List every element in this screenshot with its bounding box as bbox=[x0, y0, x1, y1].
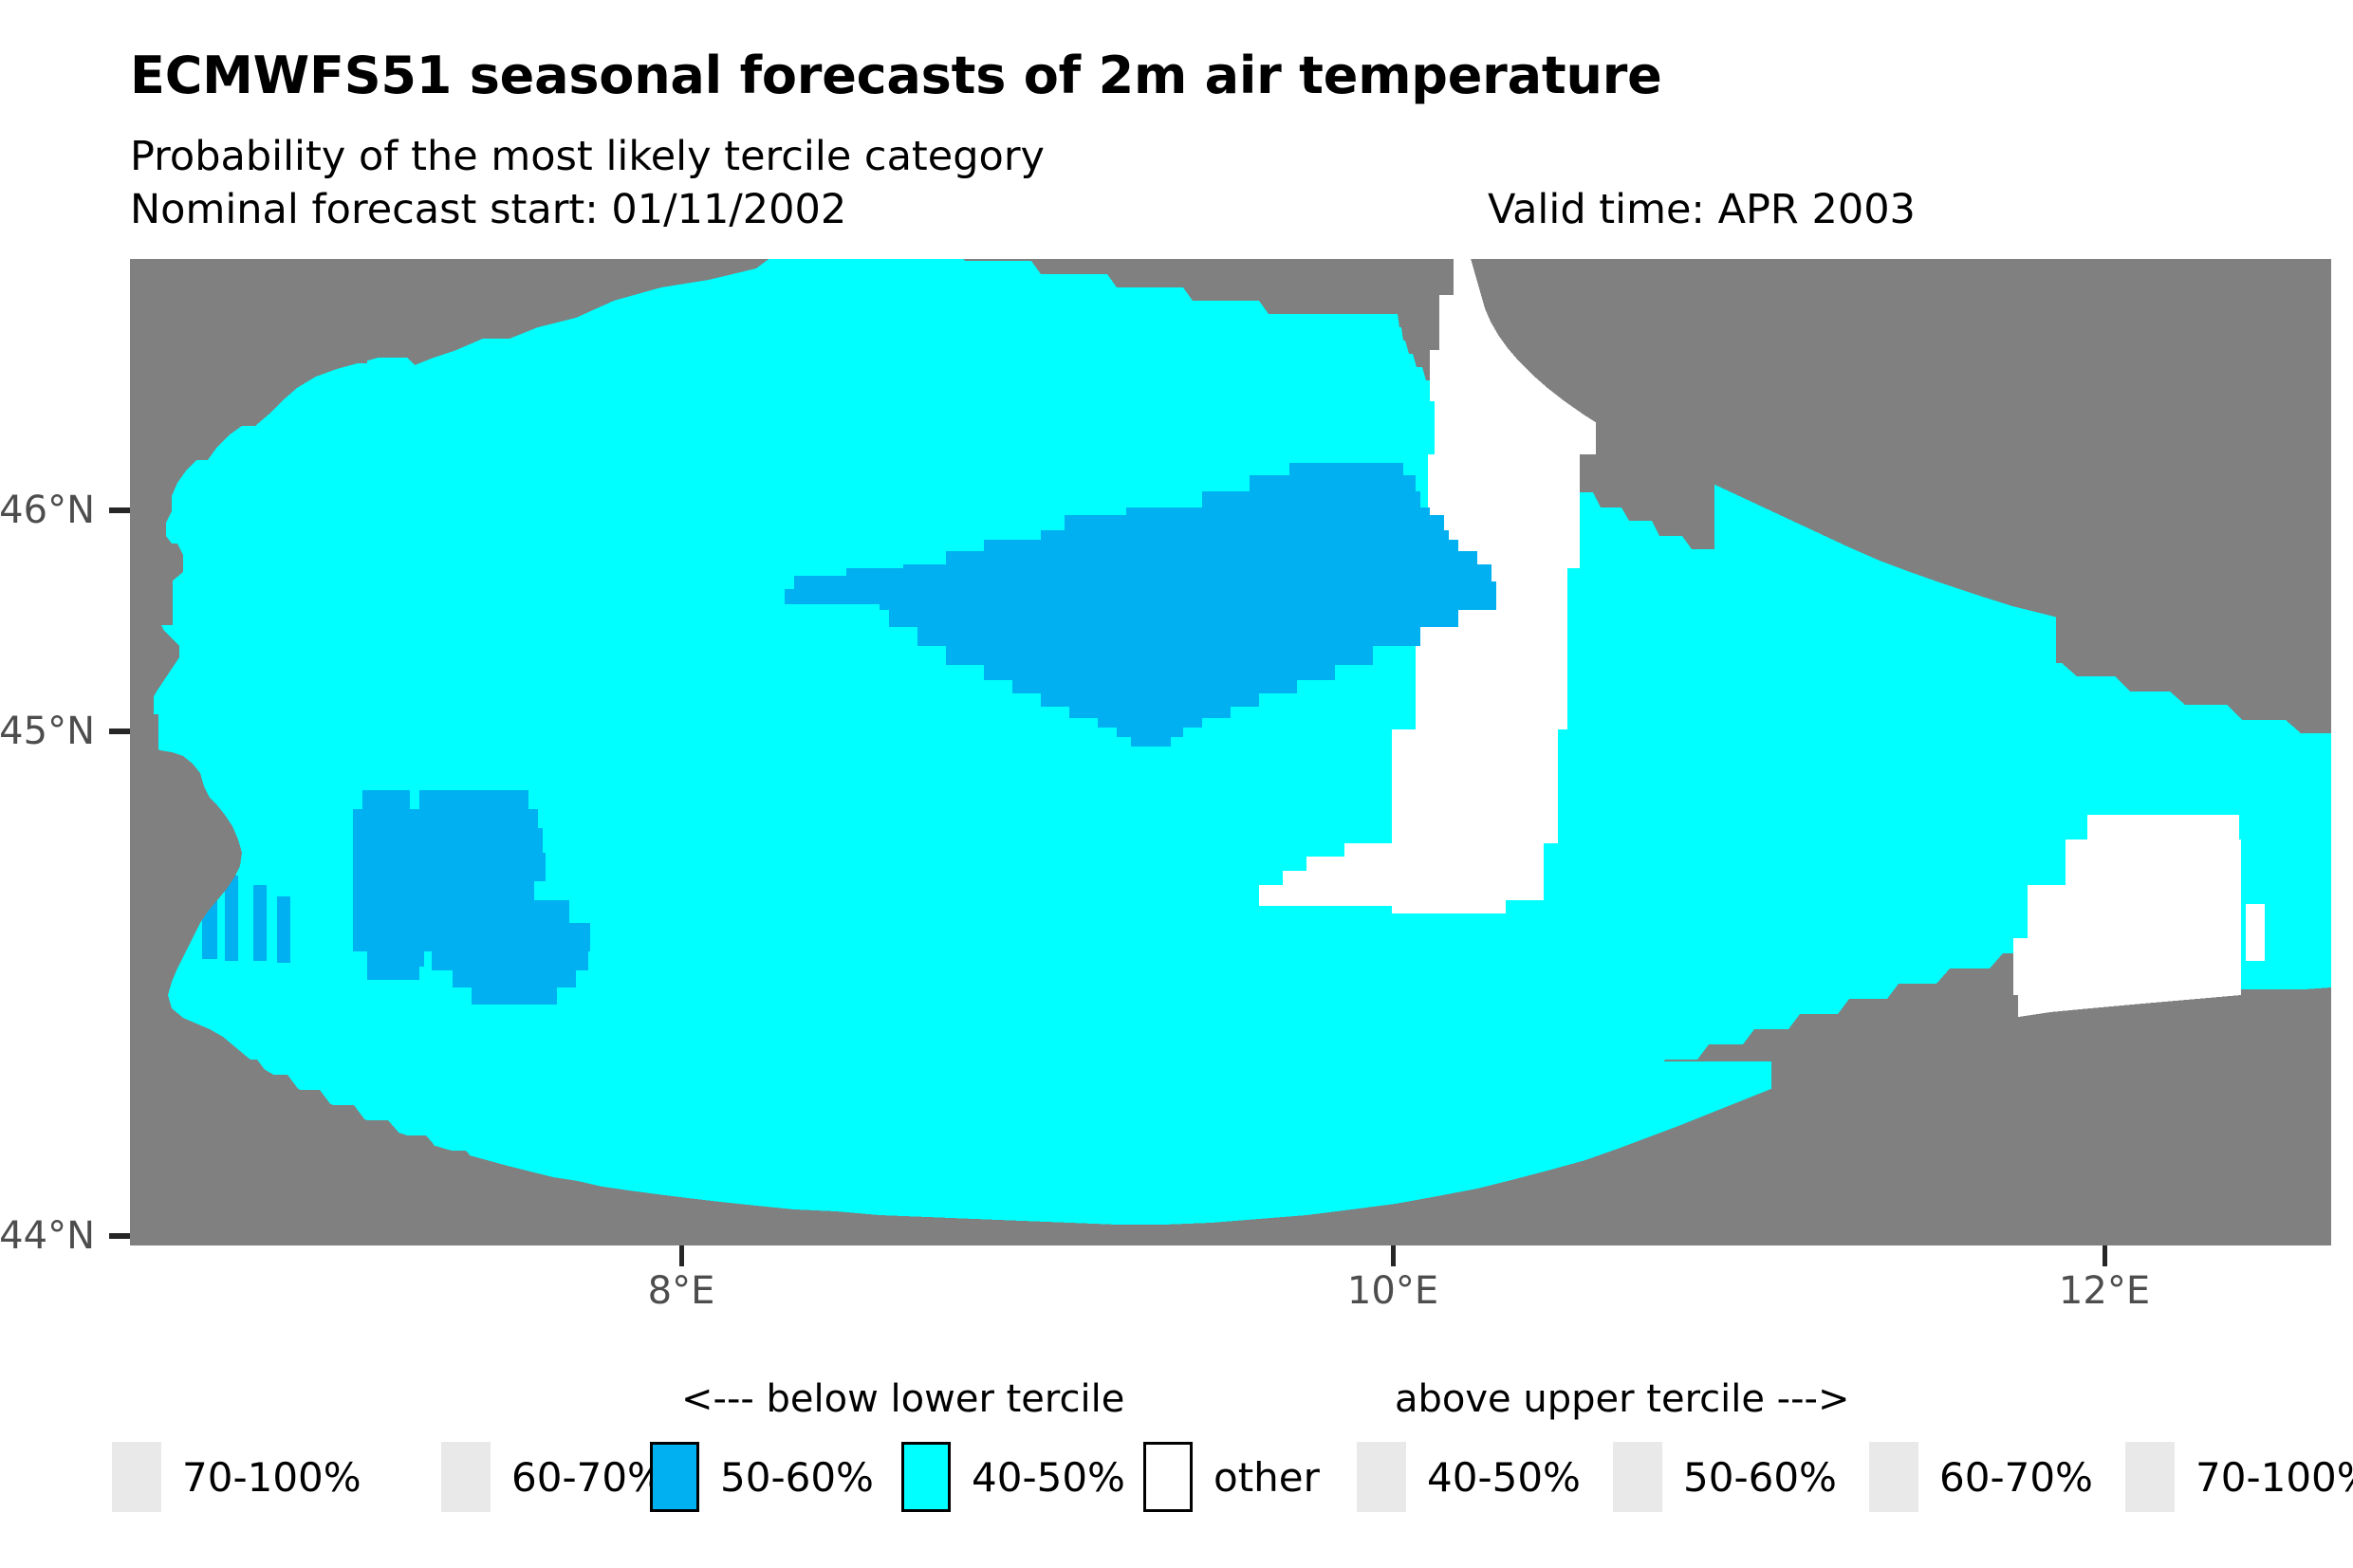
forecast-start: Nominal forecast start: 01/11/2002 bbox=[130, 186, 846, 233]
legend: <--- below lower tercile above upper ter… bbox=[0, 1356, 2353, 1546]
ylabel-46N: 46°N bbox=[0, 489, 95, 532]
legend-swatch-5 bbox=[1357, 1442, 1406, 1512]
ylabel-44N: 44°N bbox=[0, 1214, 95, 1258]
legend-label-5: 40-50% bbox=[1427, 1454, 1581, 1501]
legend-item-7[interactable]: 60-70% bbox=[1869, 1434, 2093, 1520]
tick-12E bbox=[2103, 1245, 2107, 1266]
legend-item-3[interactable]: 40-50% bbox=[901, 1434, 1125, 1520]
legend-row: 70-100% 60-70% 50-60% 40-50% other 40-50… bbox=[0, 1434, 2353, 1520]
xlabel-10E: 10°E bbox=[1347, 1269, 1438, 1313]
legend-swatch-4 bbox=[1143, 1442, 1193, 1512]
legend-swatch-8 bbox=[2125, 1442, 2175, 1512]
tick-10E bbox=[1391, 1245, 1396, 1266]
legend-label-0: 70-100% bbox=[182, 1454, 361, 1501]
xlabel-12E: 12°E bbox=[2059, 1269, 2150, 1313]
legend-item-0[interactable]: 70-100% bbox=[112, 1434, 361, 1520]
legend-swatch-0 bbox=[112, 1442, 161, 1512]
legend-label-7: 60-70% bbox=[1939, 1454, 2093, 1501]
legend-swatch-6 bbox=[1613, 1442, 1662, 1512]
legend-item-4[interactable]: other bbox=[1143, 1434, 1320, 1520]
map-panel bbox=[130, 259, 2331, 1245]
legend-item-5[interactable]: 40-50% bbox=[1357, 1434, 1581, 1520]
legend-swatch-3 bbox=[901, 1442, 951, 1512]
valid-time: Valid time: APR 2003 bbox=[1488, 186, 1916, 233]
legend-item-6[interactable]: 50-60% bbox=[1613, 1434, 1837, 1520]
legend-above-label: above upper tercile ---> bbox=[1395, 1377, 1850, 1421]
legend-label-6: 50-60% bbox=[1683, 1454, 1837, 1501]
tick-8E bbox=[679, 1245, 684, 1266]
xlabel-8E: 8°E bbox=[648, 1269, 715, 1313]
legend-label-3: 40-50% bbox=[972, 1454, 1125, 1501]
page-title: ECMWFS51 seasonal forecasts of 2m air te… bbox=[130, 46, 1662, 105]
legend-label-4: other bbox=[1214, 1454, 1320, 1501]
legend-swatch-2 bbox=[650, 1442, 699, 1512]
legend-label-1: 60-70% bbox=[511, 1454, 665, 1501]
legend-label-8: 70-100% bbox=[2196, 1454, 2353, 1501]
forecast-map bbox=[130, 259, 2331, 1245]
ylabel-45N: 45°N bbox=[0, 710, 95, 753]
legend-swatch-1 bbox=[441, 1442, 491, 1512]
tick-44N bbox=[109, 1233, 130, 1239]
legend-label-2: 50-60% bbox=[720, 1454, 874, 1501]
subtitle: Probability of the most likely tercile c… bbox=[130, 133, 1045, 180]
legend-swatch-7 bbox=[1869, 1442, 1918, 1512]
legend-item-1[interactable]: 60-70% bbox=[441, 1434, 665, 1520]
legend-item-2[interactable]: 50-60% bbox=[650, 1434, 874, 1520]
legend-below-label: <--- below lower tercile bbox=[681, 1377, 1124, 1421]
tick-45N bbox=[109, 729, 130, 734]
legend-item-8[interactable]: 70-100% bbox=[2125, 1434, 2353, 1520]
tick-46N bbox=[109, 507, 130, 513]
